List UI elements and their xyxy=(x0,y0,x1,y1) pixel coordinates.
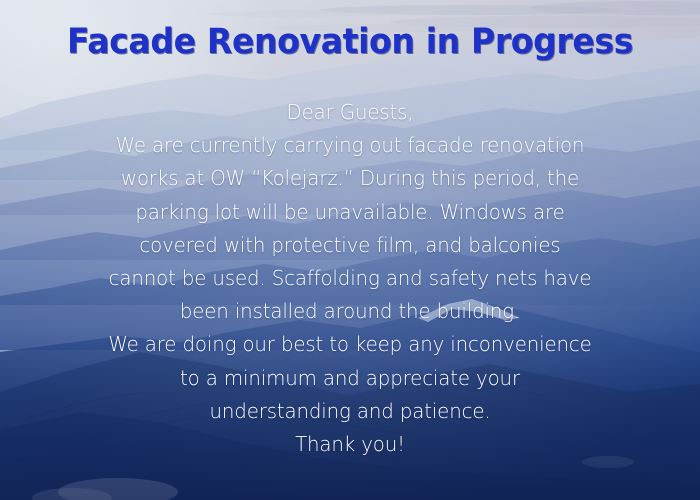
message-line: Dear Guests, xyxy=(12,96,688,129)
message-line: We are doing our best to keep any inconv… xyxy=(12,328,688,361)
message-line: covered with protective film, and balcon… xyxy=(12,229,688,262)
message-line: parking lot will be unavailable. Windows… xyxy=(12,196,688,229)
message-line: understanding and patience. xyxy=(12,395,688,428)
message-line: cannot be used. Scaffolding and safety n… xyxy=(12,262,688,295)
message-line: Thank you! xyxy=(12,428,688,461)
renovation-notice-poster: Facade Renovation in Progress Dear Guest… xyxy=(0,0,700,500)
message-line: been installed around the building. xyxy=(12,295,688,328)
message-line: works at OW “Kolejarz.” During this peri… xyxy=(12,162,688,195)
notice-message: Dear Guests, We are currently carrying o… xyxy=(12,96,688,461)
message-line: to a minimum and appreciate your xyxy=(12,362,688,395)
message-line: We are currently carrying out facade ren… xyxy=(12,129,688,162)
page-title: Facade Renovation in Progress xyxy=(19,22,681,62)
text-overlay: Facade Renovation in Progress Dear Guest… xyxy=(0,0,700,500)
